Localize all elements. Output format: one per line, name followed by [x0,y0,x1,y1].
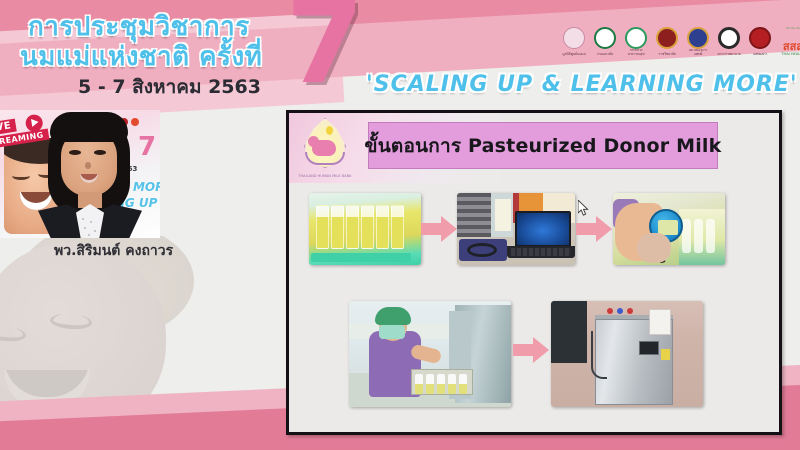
speaker-name-label: พว.สิริมนต์ คงถาวร [54,240,173,262]
thaihealth-logo-icon: ~~~ สสส THAI HEALTH [779,26,800,56]
step-arrow-1-icon [421,216,457,242]
photo-temperature-meter [613,193,725,265]
step-arrow-3-icon [513,337,549,363]
speaker-eye-left [69,150,81,155]
speaker-nose [85,162,91,169]
watermark-eye-right [50,313,93,331]
photo-milk-bottles-rack [309,193,421,265]
conference-title-line2: นมแม่แห่งชาติ ครั้งที่ [20,36,262,77]
red-seal-logo-icon: แพทยสภา [748,26,772,56]
royal-emblem-logo-icon: มูลนิธิศูนย์นมแม่ [562,26,586,56]
conference-slogan: 'SCALING UP & LEARNING MORE' [366,72,798,97]
watermark-eye-left [0,324,27,343]
black-seal-logo-icon: สภาการพยาบาล [717,26,741,56]
edition-number: 7 [286,0,364,100]
slide-title-text: ขั้นตอนการ Pasteurized Donor Milk [365,131,722,161]
step-arrow-2-icon [576,216,612,242]
logo-caption: THAILAND HUMAN MILK BANK [296,174,354,178]
slide-title-banner: ขั้นตอนการ Pasteurized Donor Milk [368,122,718,169]
royal-crown-logo-icon: ราชวิทยาลัย [655,26,679,56]
conference-date: 5 - 7 สิงหาคม 2563 [78,72,261,102]
human-milk-bank-logo-icon: THAILAND HUMAN MILK BANK [296,116,354,178]
screen: การประชุมวิชาการ นมแม่แห่งชาติ ครั้งที่ … [0,0,800,450]
speaker-blouse-pattern [80,216,100,238]
speaker-bangs [50,112,128,142]
photo-laptop-workstation [457,193,575,265]
photo-nurse-loading-tray [349,301,511,407]
photo-pasteurizer-machine [551,301,703,407]
health-department-logo-icon: กระทรวงสาธารณสุข [624,26,648,56]
speaker-eye-right [94,150,106,155]
sponsor-logo-strip: มูลนิธิศูนย์นมแม่ กรมอนามัย กระทรวงสาธาร… [562,26,800,56]
ministry-public-health-logo-icon: กรมอนามัย [593,26,617,56]
mouse-cursor-icon [578,200,590,217]
presentation-slide[interactable]: THAILAND HUMAN MILK BANK ขั้นตอนการ Past… [286,110,782,435]
thai-flag-shield-logo-icon: สมาคมกุมารแพทย์ [686,26,710,56]
milk-droplet-icon [326,126,333,135]
cradling-hands-icon [305,152,345,165]
